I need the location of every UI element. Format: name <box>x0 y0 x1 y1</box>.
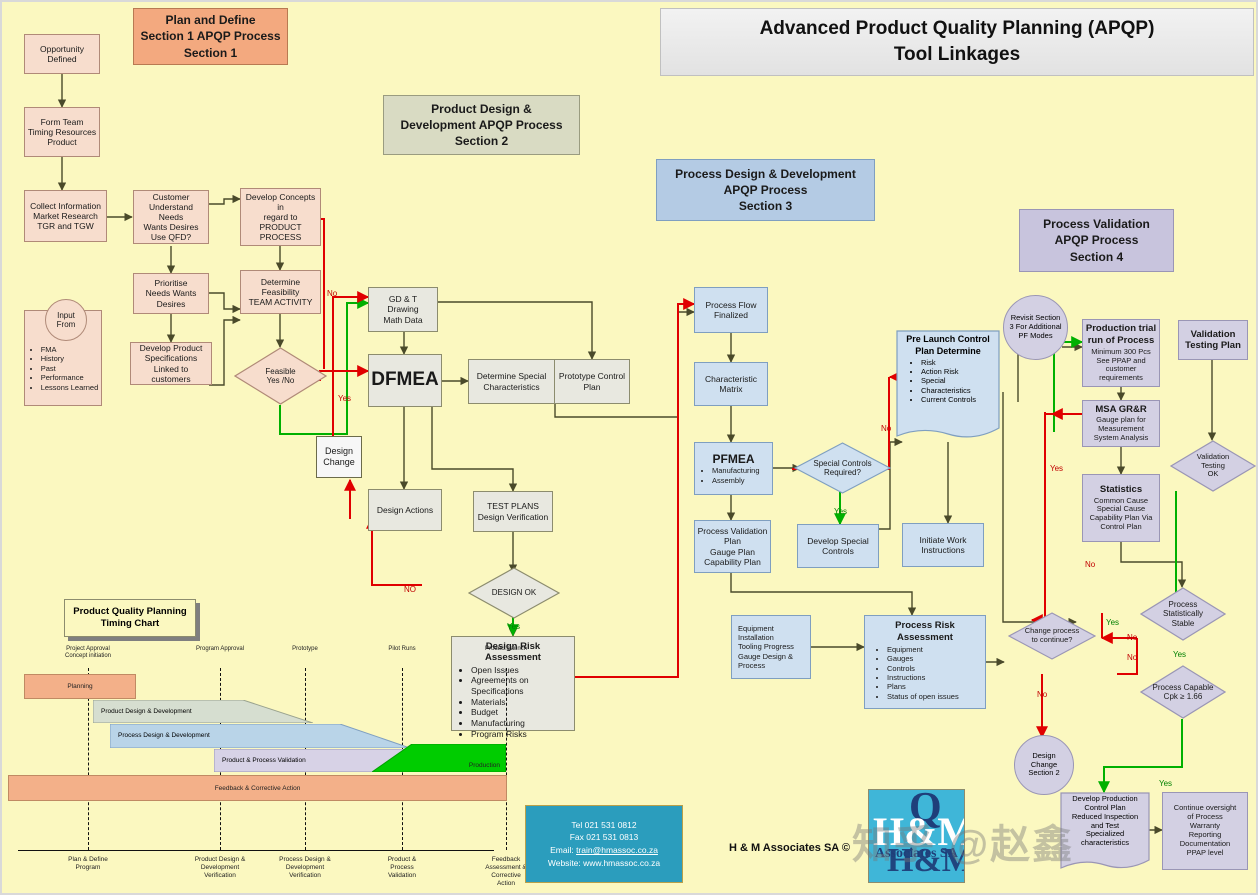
decision-change-process-label: Change process to continue? <box>1021 627 1084 644</box>
section-1-header: Plan and Define Section 1 APQP Process S… <box>133 8 288 65</box>
section-4-header: Process Validation APQP Process Section … <box>1019 209 1174 272</box>
band-label: Process Design & Development <box>110 732 210 739</box>
timing-footer-label: Product & Process Validation <box>354 856 450 880</box>
node-validation-testing-plan[interactable]: Validation Testing Plan <box>1178 320 1248 360</box>
stats-body: Common Cause Special Cause Capability Pl… <box>1090 497 1153 532</box>
prelaunch-bullet-item: Special <box>921 376 997 385</box>
node-design-actions[interactable]: Design Actions <box>368 489 442 531</box>
edge-label: Yes <box>834 507 847 516</box>
contact-email-row: Email: train@hmassoc.co.za <box>550 844 658 857</box>
s3-line2: APQP Process <box>724 182 808 198</box>
section-2-header: Product Design & Development APQP Proces… <box>383 95 580 155</box>
edge-label: No <box>1037 690 1047 699</box>
timing-milestone-label: Pilot Runs <box>354 646 450 653</box>
contact-email-label: Email: <box>550 845 576 855</box>
decision-design-ok-label: DESIGN OK <box>488 588 540 597</box>
s1-line1: Plan and Define <box>165 12 255 28</box>
watermark-text: 知乎 @赵鑫 <box>852 812 1074 870</box>
timing-band-process-design: Process Design & Development <box>110 724 410 748</box>
s4-line3: Section 4 <box>1070 249 1123 265</box>
node-initiate-work-instructions[interactable]: Initiate Work Instructions <box>902 523 984 567</box>
prelaunch-bullet-item: Characteristics <box>921 386 997 395</box>
contact-website: Website: www.hmassoc.co.za <box>548 857 660 870</box>
input-bullet-item: History <box>41 354 99 363</box>
decision-process-capable[interactable]: Process Capable Cpk ≥ 1.66 <box>1140 665 1226 719</box>
timing-footer-label: Product Design & Development Verificatio… <box>172 856 268 880</box>
node-msa-grr[interactable]: MSA GR&R Gauge plan for Measurement Syst… <box>1082 400 1160 447</box>
stats-title: Statistics <box>1100 484 1142 495</box>
equipment-bullets: EquipmentInstallationTooling ProgressGau… <box>734 624 794 671</box>
decision-special-controls-required[interactable]: Special Controls Required? <box>794 442 891 494</box>
input-bullet-item: Performance <box>41 373 99 382</box>
msa-title: MSA GR&R <box>1095 404 1146 415</box>
contact-email-link[interactable]: train@hmassoc.co.za <box>576 845 658 855</box>
prelaunch-title2: Plan Determine <box>899 346 997 357</box>
timing-milestone-label: Project Approval Concept initiation <box>40 646 136 660</box>
edge-label: NO <box>404 585 416 594</box>
node-design-change[interactable]: Design Change <box>316 436 362 478</box>
decision-validation-testing-ok[interactable]: Validation Testing OK <box>1170 440 1256 492</box>
node-input-from: Input From <box>45 299 87 341</box>
edge-label: Yes <box>507 622 520 631</box>
timing-milestone-label: Prototype <box>257 646 353 653</box>
timing-band-production: Production <box>372 744 506 772</box>
prelaunch-title1: Pre Launch Control <box>899 334 997 345</box>
page-title: Advanced Product Quality Planning (APQP)… <box>660 8 1254 76</box>
prelaunch-bullet-item: Current Controls <box>921 395 997 404</box>
timing-milestone-dash <box>506 668 507 850</box>
band-label: Planning <box>67 683 92 690</box>
edge-label: Yes <box>1050 464 1063 473</box>
node-determine-feasibility[interactable]: Determine Feasibility TEAM ACTIVITY <box>240 270 321 314</box>
band-label: Production <box>469 762 500 769</box>
section-3-header: Process Design & Development APQP Proces… <box>656 159 875 221</box>
node-customer-needs[interactable]: Customer Understand Needs Wants Desires … <box>133 190 209 244</box>
decision-stat-stable-label: Process Statistically Stable <box>1159 600 1207 628</box>
title-line2: Tool Linkages <box>894 42 1020 68</box>
node-statistics[interactable]: Statistics Common Cause Special Cause Ca… <box>1082 474 1160 542</box>
node-production-trial-run[interactable]: Production trial run of Process Minimum … <box>1082 319 1160 387</box>
node-prototype-control-plan[interactable]: Prototype Control Plan <box>554 359 630 404</box>
edge-label: No <box>1085 560 1095 569</box>
pfmea-bullet-item: Manufacturing <box>712 466 760 475</box>
equipment-bullet-item: Tooling Progress <box>738 642 794 651</box>
copyright-text: H & M Associates SA © <box>729 842 850 854</box>
edge-label: No <box>1127 653 1137 662</box>
process-risk-bullet-item: Controls <box>887 664 959 673</box>
input-bullet-item: FMA <box>41 345 99 354</box>
proc-capable-title: Process Capable <box>1153 683 1214 692</box>
equipment-bullet-item: Gauge Design & <box>738 652 794 661</box>
node-opportunity-defined[interactable]: Opportunity Defined <box>24 34 100 74</box>
process-risk-bullet-item: Plans <box>887 682 959 691</box>
edge-label: Yes <box>338 394 351 403</box>
node-process-flow-finalized[interactable]: Process Flow Finalized <box>694 287 768 333</box>
input-bullet-item: Lessons Learned <box>41 383 99 392</box>
edge-label: No <box>1127 633 1137 642</box>
node-determine-special-characteristics[interactable]: Determine Special Characteristics <box>468 359 555 404</box>
node-develop-product-specs[interactable]: Develop Product Specifications Linked to… <box>130 342 212 385</box>
decision-validation-label: Validation Testing OK <box>1193 453 1233 479</box>
timing-milestone-label: Product Launch <box>458 646 554 653</box>
decision-feasible-label: Feasible Yes /No <box>261 367 299 385</box>
band-label: Product & Process Validation <box>214 757 306 764</box>
input-bullet-item: Past <box>41 364 99 373</box>
contact-fax: Fax 021 531 0813 <box>570 831 639 844</box>
pfmea-title: PFMEA <box>699 452 768 466</box>
equipment-bullet-item: Installation <box>738 633 794 642</box>
node-dfmea[interactable]: DFMEA <box>368 354 442 407</box>
prod-trial-body: Minimum 300 Pcs See PPAP and customer re… <box>1091 348 1151 383</box>
band-label: Product Design & Development <box>93 708 192 715</box>
equipment-bullet-item: Process <box>738 661 794 670</box>
timing-footer-label: Process Design & Development Verificatio… <box>257 856 353 880</box>
decision-process-statistically-stable[interactable]: Process Statistically Stable <box>1140 587 1226 641</box>
decision-design-ok[interactable]: DESIGN OK <box>468 567 560 619</box>
node-design-change-section-2[interactable]: Design Change Section 2 <box>1014 735 1074 795</box>
timing-band-product-design: Product Design & Development <box>93 700 313 723</box>
node-develop-concepts[interactable]: Develop Concepts in regard to PRODUCT PR… <box>240 188 321 246</box>
title-line1: Advanced Product Quality Planning (APQP) <box>760 16 1155 42</box>
timing-milestone-label: Program Approval <box>172 646 268 653</box>
decision-special-controls-label: Special Controls Required? <box>809 459 875 477</box>
timing-axis-line <box>18 850 494 851</box>
node-test-plans[interactable]: TEST PLANS Design Verification <box>473 491 553 532</box>
s4-line2: APQP Process <box>1055 232 1139 248</box>
decision-change-process[interactable]: Change process to continue? <box>1008 612 1096 660</box>
band-label: Feedback & Corrective Action <box>215 785 301 792</box>
pra-bullets: EquipmentGaugesControlsInstructionsPlans… <box>869 645 959 701</box>
prelaunch-bullet-item: Action Risk <box>921 367 997 376</box>
process-risk-bullet-item: Gauges <box>887 654 959 663</box>
prod-trial-title2: run of Process <box>1088 335 1155 346</box>
node-revisit-section-3[interactable]: Revisit Section 3 For Additional PF Mode… <box>1003 295 1068 360</box>
s1-line2: Section 1 APQP Process <box>140 28 280 44</box>
node-process-validation-plan[interactable]: Process Validation Plan Gauge Plan Capab… <box>694 520 771 573</box>
node-form-team[interactable]: Form Team Timing Resources Product <box>24 107 100 157</box>
node-characteristic-matrix[interactable]: Characteristic Matrix <box>694 362 768 406</box>
equipment-bullet-item: Equipment <box>738 624 794 633</box>
edge-label: Yes <box>1159 779 1172 788</box>
msa-body: Gauge plan for Measurement System Analys… <box>1094 416 1149 443</box>
process-risk-bullet-item: Status of open issues <box>887 692 959 701</box>
node-develop-special-controls[interactable]: Develop Special Controls <box>797 524 879 568</box>
node-process-risk-assessment[interactable]: Process Risk Assessment EquipmentGaugesC… <box>864 615 986 709</box>
edge-label: Yes <box>1173 650 1186 659</box>
contact-box: Tel 021 531 0812 Fax 021 531 0813 Email:… <box>525 805 683 883</box>
edge-label: No <box>327 289 337 298</box>
node-equipment-installation[interactable]: EquipmentInstallationTooling ProgressGau… <box>731 615 811 679</box>
proc-capable-cpk: Cpk ≥ 1.66 <box>1153 692 1214 701</box>
timing-chart-header: Product Quality Planning Timing Chart <box>64 599 196 637</box>
node-pfmea[interactable]: PFMEA ManufacturingAssembly <box>694 442 773 495</box>
node-gdt-drawing[interactable]: GD & T Drawing Math Data <box>368 287 438 332</box>
s4-line1: Process Validation <box>1043 216 1150 232</box>
prelaunch-bullets: RiskAction RiskSpecialCharacteristicsCur… <box>899 358 997 405</box>
pra-title1: Process Risk <box>869 620 981 631</box>
s3-line3: Section 3 <box>739 198 792 214</box>
edge-label: Yes <box>1106 618 1119 627</box>
pfmea-bullets: ManufacturingAssembly <box>699 466 760 485</box>
node-input-from-panel[interactable]: Input From FMAHistoryPastPerformanceLess… <box>24 310 102 406</box>
process-risk-bullet-item: Instructions <box>887 673 959 682</box>
s2-line2: Development APQP Process <box>400 117 562 133</box>
input-from-bullets: FMAHistoryPastPerformanceLessons Learned <box>28 345 99 392</box>
pra-title2: Assessment <box>869 632 981 643</box>
node-collect-information[interactable]: Collect Information Market Research TGR … <box>24 190 107 242</box>
timing-chart: Project Approval Concept initiationProgr… <box>2 642 522 895</box>
contact-tel: Tel 021 531 0812 <box>571 819 636 832</box>
node-pre-launch-control-plan[interactable]: Pre Launch Control Plan Determine RiskAc… <box>896 330 1000 442</box>
node-continue-oversight[interactable]: Continue oversight of Process Warranty R… <box>1162 792 1248 870</box>
apqp-diagram-canvas: Plan and Define Section 1 APQP Process S… <box>0 0 1258 895</box>
s1-line3: Section 1 <box>184 45 237 61</box>
prelaunch-bullet-item: Risk <box>921 358 997 367</box>
prod-trial-title1: Production trial <box>1086 323 1156 334</box>
pfmea-bullet-item: Assembly <box>712 476 760 485</box>
timing-band-planning: Planning <box>24 674 136 699</box>
timing-footer-label: Plan & Define Program <box>40 856 136 872</box>
edge-label: No <box>881 424 891 433</box>
node-prioritise-needs[interactable]: Prioritise Needs Wants Desires <box>133 273 209 314</box>
timing-band-feedback: Feedback & Corrective Action <box>8 775 507 801</box>
process-risk-bullet-item: Equipment <box>887 645 959 654</box>
s3-line1: Process Design & Development <box>675 166 856 182</box>
s2-line1: Product Design & <box>431 101 532 117</box>
decision-process-capable-label: Process Capable Cpk ≥ 1.66 <box>1149 683 1218 701</box>
s2-line3: Section 2 <box>455 133 508 149</box>
decision-feasible[interactable]: Feasible Yes /No <box>234 347 327 405</box>
